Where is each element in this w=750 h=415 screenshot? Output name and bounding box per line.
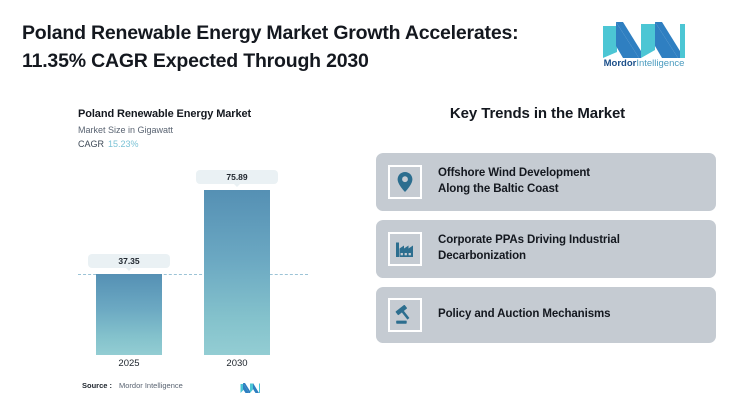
- trend-line-1: Policy and Auction Mechanisms: [438, 307, 610, 323]
- factory-icon: [388, 232, 422, 266]
- trend-text-policy-auction: Policy and Auction Mechanisms: [438, 307, 610, 323]
- cagr-value: 15.23%: [108, 139, 139, 149]
- x-axis: 2025 2030: [78, 359, 308, 375]
- chart-panel: Poland Renewable Energy Market Market Si…: [78, 108, 308, 393]
- trend-line-1: Offshore Wind Development: [438, 166, 590, 182]
- trends-title: Key Trends in the Market: [370, 105, 705, 123]
- trend-card-offshore-wind[interactable]: Offshore Wind Development Along the Balt…: [376, 153, 716, 211]
- trend-line-1: Corporate PPAs Driving Industrial: [438, 233, 620, 249]
- source-label: Source :: [82, 382, 112, 390]
- brand-wordmark: MordorIntelligence: [592, 59, 696, 69]
- bar-chart-plot: 37.35 75.89: [78, 160, 308, 355]
- headline-line-1: Poland Renewable Energy Market Growth Ac…: [22, 20, 582, 48]
- x-tick-2030: 2030: [204, 359, 270, 369]
- trend-card-policy-auction[interactable]: Policy and Auction Mechanisms: [376, 287, 716, 343]
- infographic-page: Poland Renewable Energy Market Growth Ac…: [0, 0, 750, 415]
- chart-title: Poland Renewable Energy Market: [78, 108, 308, 121]
- headline-line-2: 11.35% CAGR Expected Through 2030: [22, 48, 582, 76]
- mordor-intelligence-m-logo-icon: [601, 18, 687, 58]
- trends-panel: Key Trends in the Market Offshore Wind D…: [370, 105, 735, 385]
- brand-name-bold: Mordor: [604, 58, 637, 69]
- chart-subtitle: Market Size in Gigawatt: [78, 125, 308, 136]
- trend-list: Offshore Wind Development Along the Balt…: [376, 153, 716, 352]
- trend-line-2: Along the Baltic Coast: [438, 182, 590, 198]
- bar-2025: [96, 274, 162, 355]
- chart-cagr: CAGR15.23%: [78, 139, 308, 150]
- cagr-label: CAGR: [78, 139, 104, 149]
- map-pin-icon: [388, 165, 422, 199]
- brand-name-light: Intelligence: [636, 58, 684, 69]
- brand-logo: MordorIntelligence: [592, 18, 696, 76]
- page-header: Poland Renewable Energy Market Growth Ac…: [0, 0, 750, 92]
- bar-2030: [204, 190, 270, 355]
- bar-value-label-2030: 75.89: [196, 170, 278, 185]
- mordor-intelligence-mark-icon: [240, 380, 260, 391]
- trend-line-2: Decarbonization: [438, 249, 620, 265]
- trend-text-corporate-ppas: Corporate PPAs Driving Industrial Decarb…: [438, 233, 620, 265]
- x-tick-2025: 2025: [96, 359, 162, 369]
- bar-value-label-2025: 37.35: [88, 254, 170, 269]
- chart-source: Source : Mordor Intelligence: [82, 380, 308, 394]
- gavel-icon: [388, 298, 422, 332]
- source-value: Mordor Intelligence: [119, 382, 183, 390]
- trend-text-offshore-wind: Offshore Wind Development Along the Balt…: [438, 166, 590, 198]
- page-title: Poland Renewable Energy Market Growth Ac…: [22, 20, 582, 75]
- trend-card-corporate-ppas[interactable]: Corporate PPAs Driving Industrial Decarb…: [376, 220, 716, 278]
